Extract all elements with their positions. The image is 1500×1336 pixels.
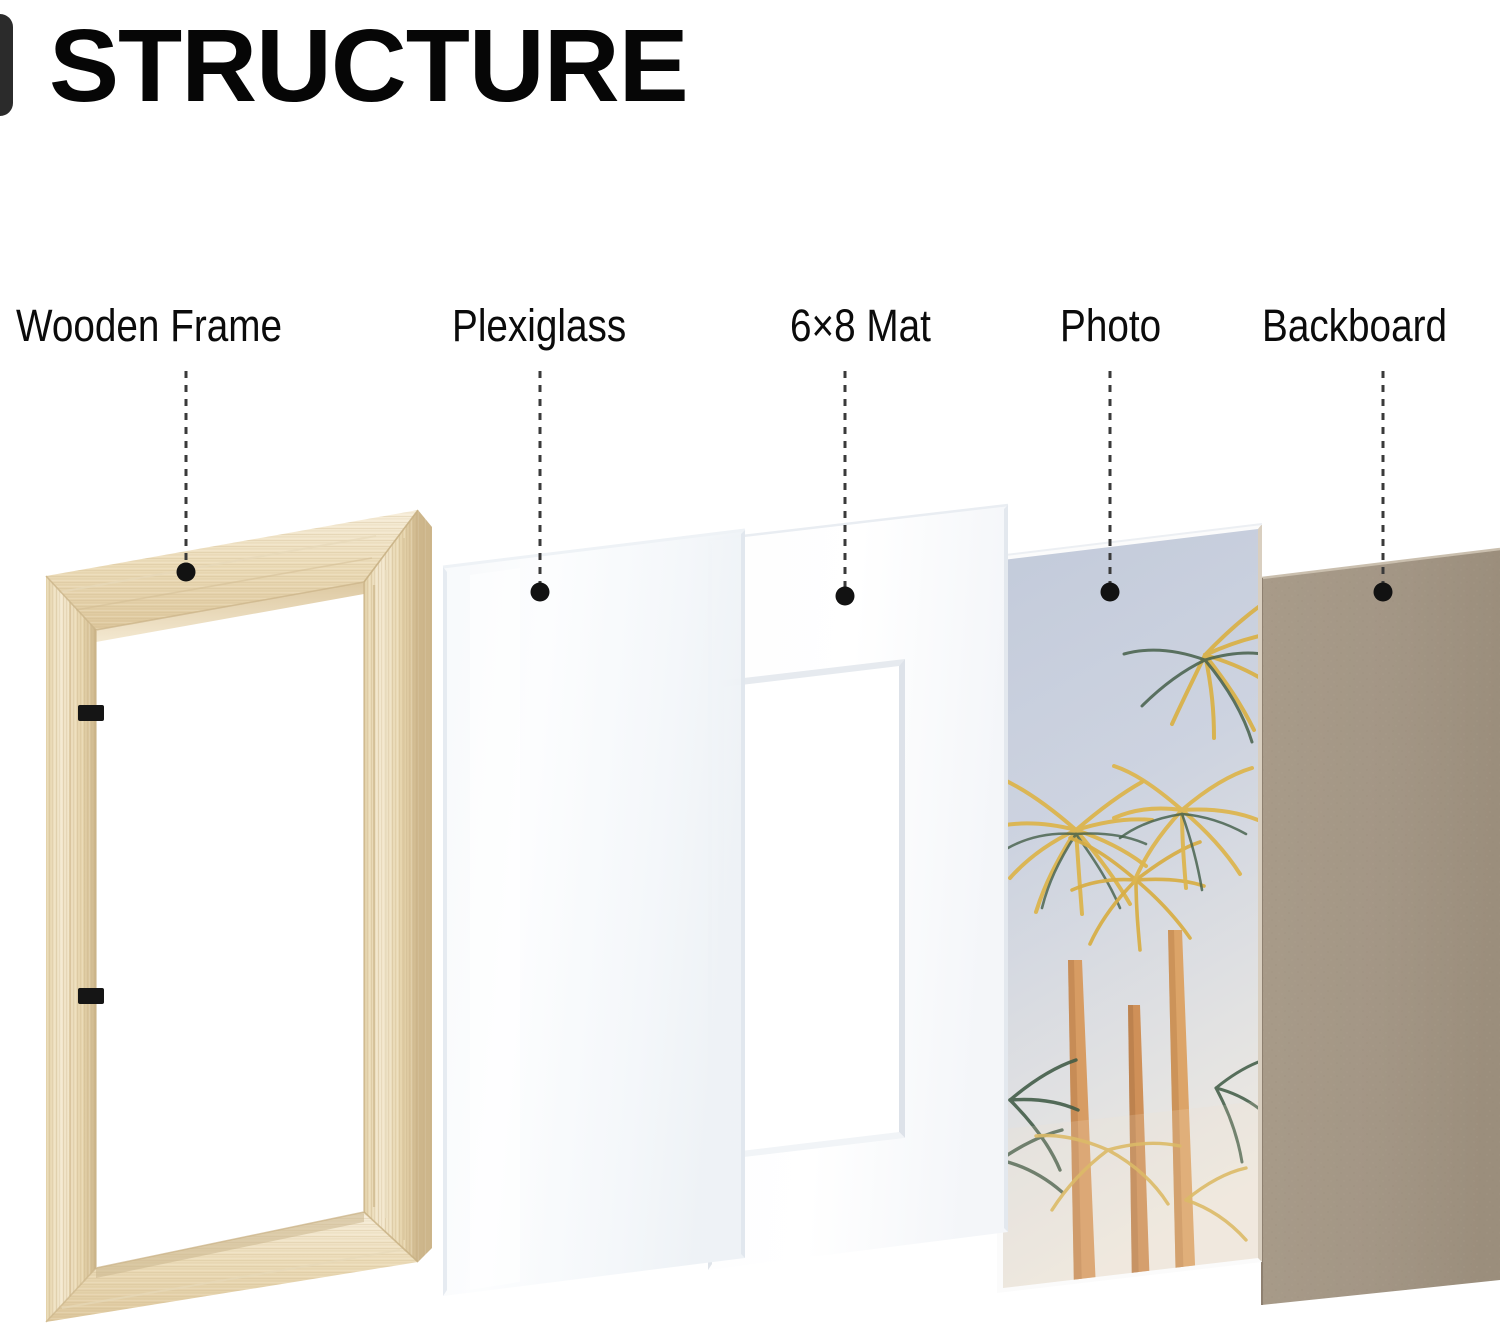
photo-image — [995, 515, 1282, 1305]
layer-photo — [995, 515, 1282, 1305]
leader-dot-plexiglass — [531, 583, 550, 602]
frame-right-stile-grain — [364, 510, 418, 1262]
plexiglass-left-edge — [443, 567, 447, 1296]
layer-backboard — [1262, 549, 1500, 1305]
leader-dot-backboard — [1374, 583, 1393, 602]
layer-wooden-frame — [46, 510, 432, 1322]
plexiglass-right-edge — [741, 530, 745, 1258]
frame-clip-lower — [78, 988, 104, 1004]
frame-opening-outline — [96, 582, 364, 1268]
mat-right-edge — [1004, 505, 1008, 1232]
mat-window-bevel — [718, 659, 905, 1160]
plexiglass-sheen — [470, 568, 520, 1290]
backboard-texture — [1262, 549, 1500, 1305]
leader-dot-photo — [1101, 583, 1120, 602]
layer-mat — [708, 505, 1008, 1270]
frame-right-depth-grain — [418, 510, 432, 1262]
frame-clip-upper — [78, 705, 104, 721]
leader-dot-mat — [836, 587, 855, 606]
layer-plexiglass — [443, 530, 745, 1296]
photo-right-edge — [1258, 524, 1262, 1262]
leader-dot-wooden-frame — [177, 563, 196, 582]
frame-structure-diagram — [0, 0, 1500, 1336]
